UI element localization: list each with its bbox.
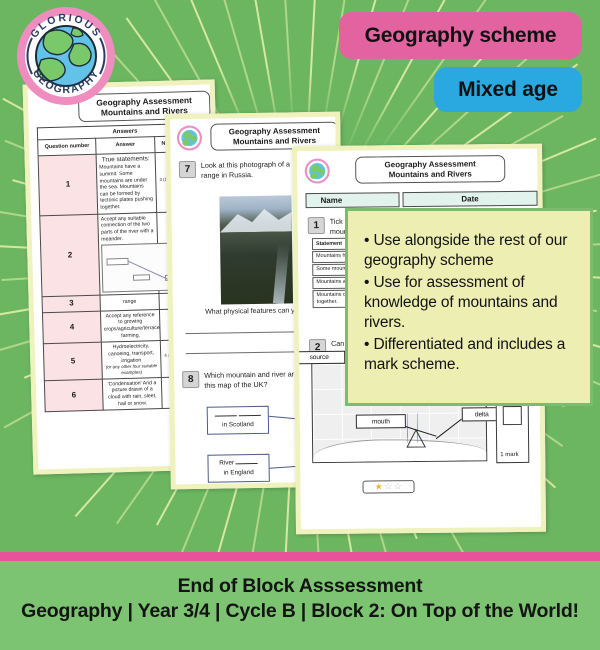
question-number-1: 1: [308, 217, 325, 234]
mark-label: 1 mark: [500, 452, 518, 458]
row-number: 5: [43, 342, 102, 380]
glorious-geography-logo-icon: [304, 158, 330, 184]
col-answer: Answer: [96, 137, 155, 155]
photo-river: [273, 243, 289, 304]
date-field[interactable]: Date: [402, 191, 537, 207]
poster-canvas: Geography Assessment Mountains and River…: [0, 0, 600, 650]
divider-pink-bar: [0, 552, 600, 561]
footer-caption: End of Block Asssessment Geography | Yea…: [0, 574, 600, 624]
answer-body: Mountains have a summit. Some mountains …: [99, 163, 154, 211]
feature-item: Use alongside the rest of our geography …: [364, 231, 576, 270]
answer-note: (or any other four suitable examples): [105, 363, 159, 376]
row-number: 1: [38, 154, 98, 215]
footer-line-2: Geography | Year 3/4 | Cycle B | Block 2…: [0, 599, 600, 624]
glorious-geography-logo-icon: [176, 125, 202, 151]
badge-geography-scheme[interactable]: Geography scheme: [339, 12, 582, 59]
difficulty-stars: ★ ☆ ☆: [362, 480, 414, 494]
badge-mixed-age[interactable]: Mixed age: [434, 67, 582, 112]
scotland-label: in Scotland: [222, 420, 254, 431]
row-answer: Accept any suitable connection of the tw…: [98, 212, 159, 295]
star-empty-icon: ☆: [394, 481, 403, 492]
col-question-number: Question number: [38, 138, 97, 156]
label-mouth[interactable]: mouth: [356, 414, 406, 429]
star-filled-icon: ★: [375, 481, 384, 492]
answer-box-scotland[interactable]: in Scotland: [207, 406, 269, 435]
star-empty-icon: ☆: [384, 481, 393, 492]
label-source[interactable]: source: [297, 351, 345, 365]
answer-lead: True statements:: [102, 155, 150, 163]
feature-item: Use for assessment of knowledge of mount…: [364, 273, 576, 332]
mark-checkbox[interactable]: [503, 406, 522, 425]
question-number-7: 7: [179, 161, 196, 178]
answer-box-england[interactable]: River in England: [207, 454, 269, 483]
features-callout: Use alongside the rest of our geography …: [345, 208, 593, 406]
row-answer: Accept any reference to growing crops/ag…: [101, 309, 160, 342]
diagram-ground: [313, 438, 486, 462]
feature-item: Differentiated and includes a mark schem…: [364, 335, 576, 374]
name-date-row: Name Date: [305, 191, 537, 208]
doc3-title: Geography Assessment Mountains and River…: [355, 155, 505, 184]
row-number: 2: [40, 214, 101, 297]
snow-peaks: [220, 205, 292, 232]
row-answer: True statements: Mountains have a summit…: [96, 153, 156, 214]
footer-band: End of Block Asssessment Geography | Yea…: [0, 561, 600, 650]
river-blank: River: [219, 458, 258, 469]
row-answer: range: [100, 294, 159, 311]
row-number: 4: [42, 311, 101, 344]
glorious-geography-logo-icon: GLORIOUS GEOGRAPHY: [16, 6, 116, 106]
row-answer: 'Condensation' And a picture drawn of a …: [103, 377, 162, 410]
answer-body: Hydroelectricity, canoeing, transport, i…: [108, 344, 154, 364]
features-list: Use alongside the rest of our geography …: [364, 231, 576, 375]
answer-body: Accept any suitable connection of the tw…: [101, 215, 155, 243]
doc3-title-line2: Mountains and Rivers: [389, 169, 472, 180]
mountain-photograph: [219, 195, 293, 304]
blank-pair: [215, 410, 261, 421]
row-number: 3: [42, 296, 101, 313]
name-field[interactable]: Name: [305, 192, 399, 208]
footer-line-1: End of Block Asssessment: [0, 574, 600, 599]
england-label: in England: [224, 468, 254, 479]
row-number: 6: [44, 379, 103, 412]
row-answer: Hydroelectricity, canoeing, transport, i…: [102, 341, 161, 379]
doc2-title-line2: Mountains and Rivers: [233, 136, 316, 147]
question-number-8: 8: [182, 371, 199, 388]
